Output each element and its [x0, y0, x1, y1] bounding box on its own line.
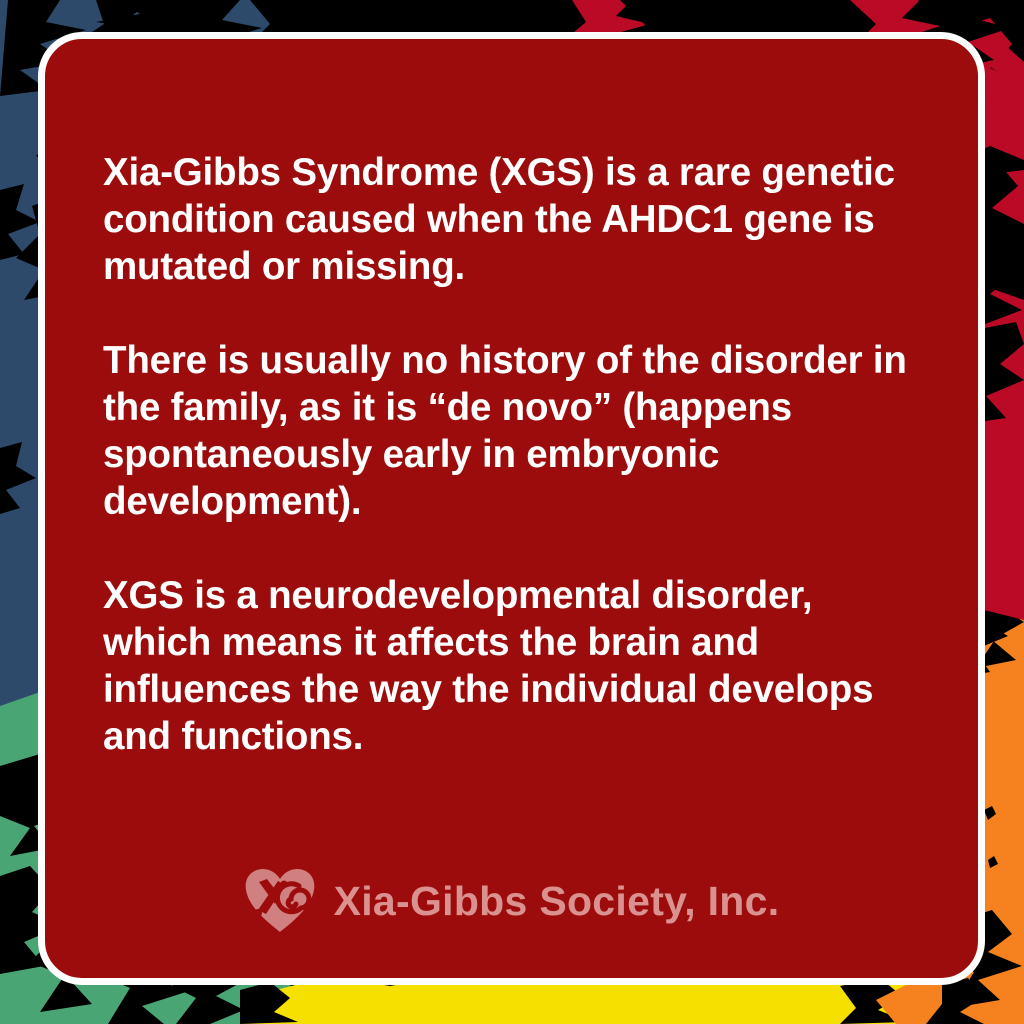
content-card: Xia-Gibbs Syndrome (XGS) is a rare genet… [38, 32, 985, 985]
paragraph-definition: Xia-Gibbs Syndrome (XGS) is a rare genet… [103, 149, 913, 290]
logo-wordmark: Xia-Gibbs Society, Inc. [334, 878, 780, 925]
paragraph-neurodevelopmental: XGS is a neurodevelopmental disorder, wh… [103, 572, 913, 760]
paragraph-de-novo: There is usually no history of the disor… [103, 337, 913, 525]
heart-xg-icon [244, 868, 316, 934]
poster-canvas: Xia-Gibbs Syndrome (XGS) is a rare genet… [0, 0, 1024, 1024]
organization-logo: Xia-Gibbs Society, Inc. [45, 842, 978, 978]
copy-block: Xia-Gibbs Syndrome (XGS) is a rare genet… [45, 39, 978, 842]
